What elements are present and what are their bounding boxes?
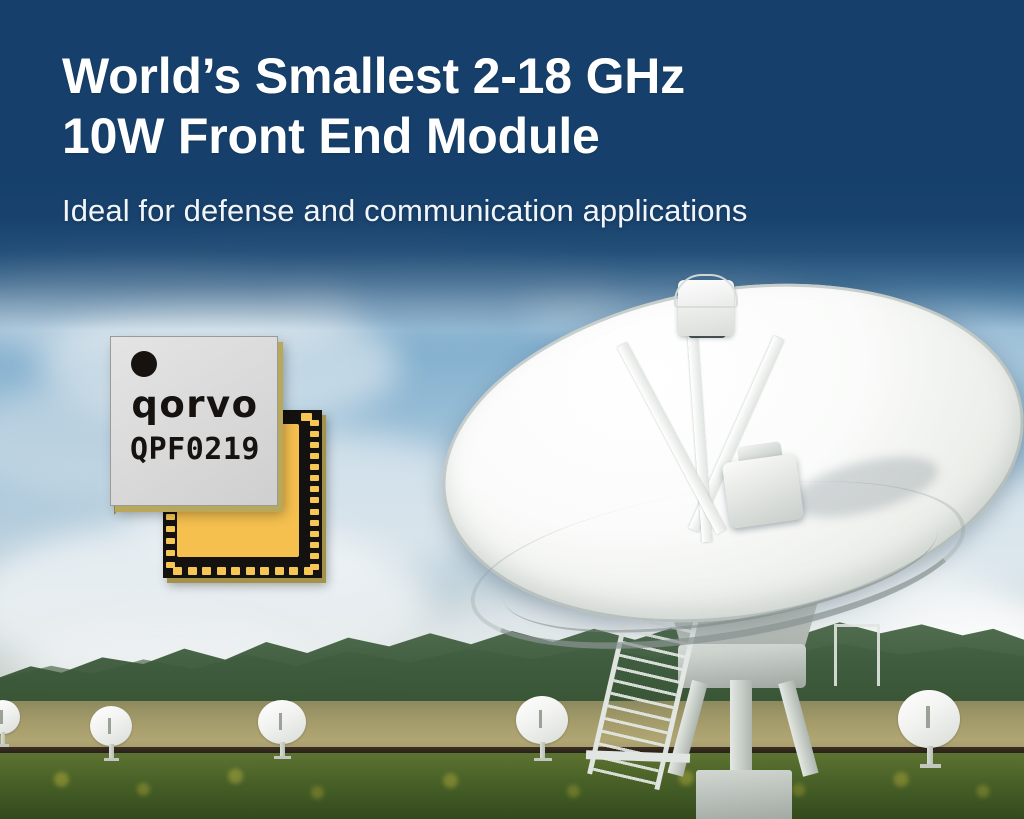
chip-pads-left — [166, 502, 175, 568]
chip-pad — [217, 567, 226, 575]
chip-pad — [166, 514, 175, 520]
chip-pad — [301, 413, 312, 421]
service-railing — [834, 624, 880, 686]
headline-text-block: World’s Smallest 2-18 GHz 10W Front End … — [62, 46, 962, 230]
chip-pad — [166, 562, 175, 568]
chip-pad — [202, 567, 211, 575]
dish-bowl — [90, 706, 132, 746]
background-dish-left — [90, 706, 138, 758]
dish-feed — [0, 710, 3, 724]
pin-one-marker-icon — [131, 351, 157, 377]
chip-pad — [310, 431, 319, 437]
chip-pad — [310, 531, 319, 537]
chip-side-wall — [114, 339, 122, 515]
main-satellite-dish — [430, 272, 1024, 819]
chip-pads-right — [310, 420, 319, 570]
chip-pad — [310, 520, 319, 526]
dish-bowl — [258, 700, 306, 744]
chip-pad — [310, 509, 319, 515]
chip-pad — [166, 526, 175, 532]
dish-base — [274, 756, 291, 759]
pedestal-leg — [730, 680, 752, 784]
chip-pad — [310, 542, 319, 548]
chip-pad — [166, 550, 175, 556]
pedestal-base — [696, 770, 792, 819]
chip-pad — [310, 453, 319, 459]
chip-package-top: qorvo QPF0219 — [110, 336, 278, 506]
product-chip-module: qorvo QPF0219 — [100, 330, 335, 585]
chip-pad — [173, 567, 182, 575]
chip-pad — [231, 567, 240, 575]
chip-pad — [310, 486, 319, 492]
chip-pad — [310, 442, 319, 448]
background-dish-mid-left — [258, 700, 312, 756]
dish-feed — [108, 718, 111, 734]
chip-pad — [260, 567, 269, 575]
headline-line-1: World’s Smallest 2-18 GHz — [62, 46, 962, 106]
dish-base — [104, 758, 119, 761]
chip-pad — [275, 567, 284, 575]
chip-part-number: QPF0219 — [111, 433, 279, 467]
headline-line-2: 10W Front End Module — [62, 106, 962, 166]
dish-feed — [279, 713, 282, 730]
chip-pad — [188, 567, 197, 575]
chip-pad — [310, 497, 319, 503]
chip-pads-bottom — [173, 567, 313, 575]
chip-pad — [310, 553, 319, 559]
chip-pad — [246, 567, 255, 575]
pedestal-leg — [778, 680, 818, 777]
subheadline: Ideal for defense and communication appl… — [62, 192, 962, 230]
qorvo-brand-logo: qorvo — [111, 385, 279, 425]
chip-pad — [310, 464, 319, 470]
dish-base — [0, 744, 9, 747]
dish-bowl — [0, 700, 20, 734]
page-title: World’s Smallest 2-18 GHz 10W Front End … — [62, 46, 962, 166]
feed-receiver-package — [722, 453, 804, 529]
chip-pad — [304, 567, 313, 575]
chip-pad — [310, 475, 319, 481]
chip-pad — [289, 567, 298, 575]
promotional-banner: World’s Smallest 2-18 GHz 10W Front End … — [0, 0, 1024, 819]
chip-pad — [166, 538, 175, 544]
background-dish-far-left — [0, 700, 26, 746]
